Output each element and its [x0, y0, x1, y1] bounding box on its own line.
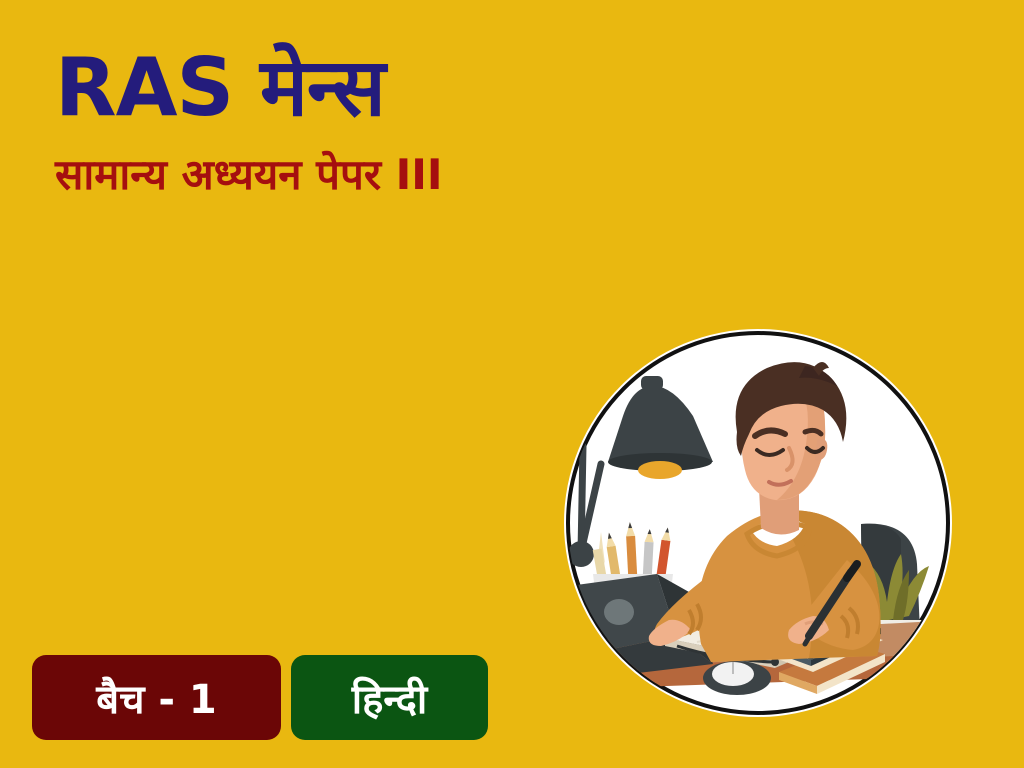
page-title: RAS मेन्स — [55, 48, 443, 128]
student-studying-illustration — [561, 324, 955, 722]
status-badge-language: हिन्दी — [291, 655, 488, 740]
illustration-svg — [561, 324, 955, 722]
computer-mouse-icon — [703, 661, 771, 695]
paper-subtitle: सामान्य अध्ययन पेपर III — [55, 152, 443, 198]
title-block: RAS मेन्स सामान्य अध्ययन पेपर III — [55, 48, 443, 198]
poster-canvas: RAS मेन्स सामान्य अध्ययन पेपर III बैच - … — [0, 0, 1024, 768]
status-badge-batch: बैच - 1 — [32, 655, 281, 740]
badge-row: बैच - 1 हिन्दी — [32, 655, 488, 740]
